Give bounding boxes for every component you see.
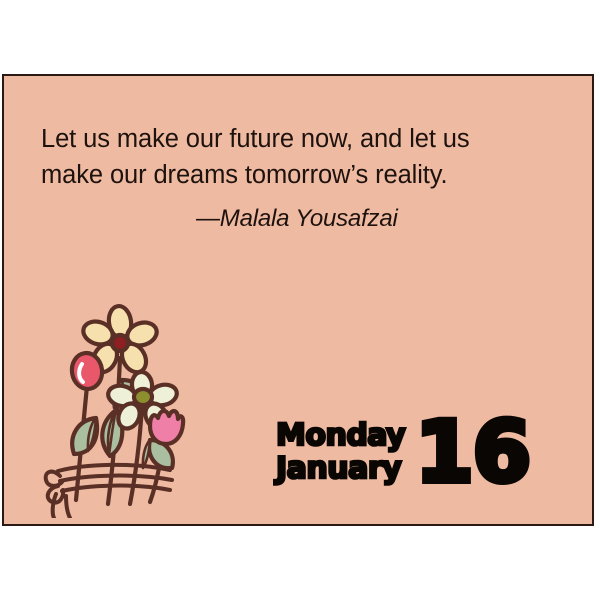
date-words: Monday January bbox=[276, 417, 405, 485]
date-month: January bbox=[276, 452, 401, 485]
calendar-card: Let us make our future now, and let us m… bbox=[2, 74, 594, 526]
date-day-number: 16 bbox=[415, 413, 530, 491]
white-daisy-center bbox=[134, 389, 152, 405]
calendar-page: Let us make our future now, and let us m… bbox=[0, 0, 600, 600]
pink-tulip bbox=[150, 411, 183, 444]
date-weekday: Monday bbox=[276, 419, 405, 452]
flower-bouquet-illustration bbox=[30, 288, 210, 518]
quote-block: Let us make our future now, and let us m… bbox=[41, 121, 561, 234]
quote-attribution: —Malala Yousafzai bbox=[41, 204, 561, 234]
yellow-daisy-center bbox=[112, 335, 128, 351]
quote-text: Let us make our future now, and let us m… bbox=[41, 121, 561, 193]
twine-tail-left bbox=[53, 494, 56, 518]
bouquet-svg bbox=[30, 288, 210, 518]
date-block: Monday January 16 bbox=[276, 398, 588, 503]
leaf-right-vein bbox=[143, 440, 150, 468]
twine-tail-right bbox=[66, 496, 70, 518]
